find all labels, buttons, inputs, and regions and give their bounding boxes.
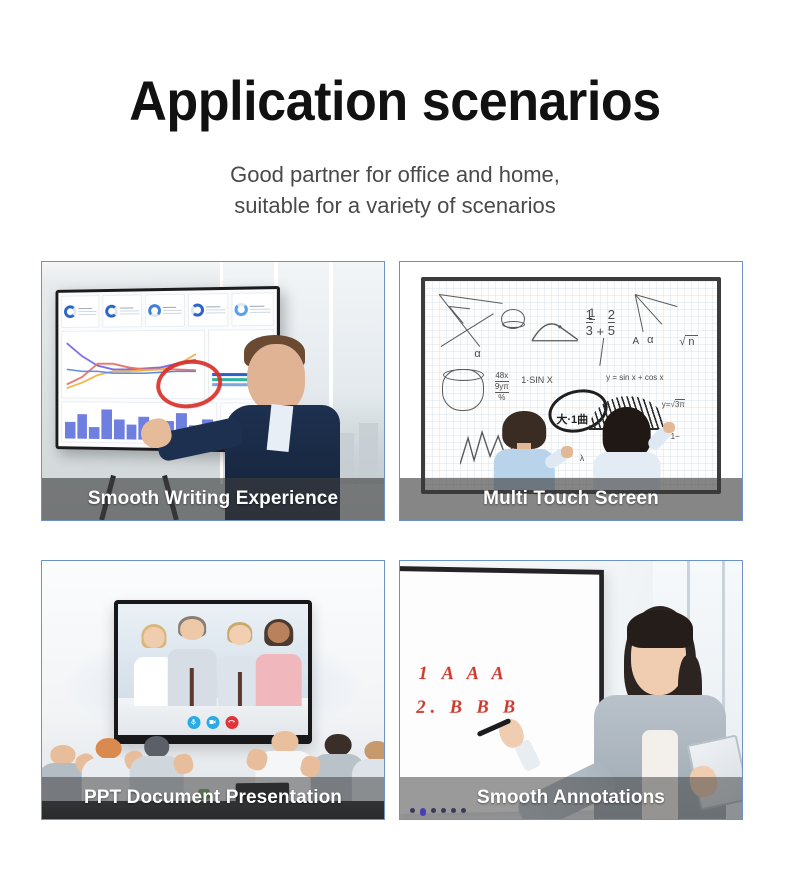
scenario-card-smooth-annotations[interactable]: 1 A A A 2. B B B — [399, 560, 743, 820]
application-scenarios-page: Application scenarios Good partner for o… — [0, 0, 790, 889]
card-caption-text: Smooth Annotations — [477, 787, 665, 809]
subtitle-line-2: suitable for a variety of scenarios — [0, 190, 790, 221]
display-toolbar-indicators — [410, 808, 466, 816]
scenario-card-smooth-writing-experience[interactable]: Smooth Writing Experience — [41, 261, 385, 521]
page-title: Application scenarios — [28, 70, 763, 133]
card-caption-bar: Multi Touch Screen — [400, 478, 742, 520]
scenario-card-grid: Smooth Writing Experience α — [41, 261, 743, 820]
interactive-whiteboard: α 1 — [421, 277, 722, 494]
card-caption-bar: PPT Document Presentation — [42, 777, 384, 819]
annotation-line-2: 2. B B B — [416, 697, 520, 719]
card-caption-text: Smooth Writing Experience — [88, 488, 338, 510]
scenario-card-ppt-document-presentation[interactable]: PPT Document Presentation — [41, 560, 385, 820]
page-header: Application scenarios Good partner for o… — [0, 0, 790, 221]
scenario-card-multi-touch-screen[interactable]: α 1 — [399, 261, 743, 521]
call-participant-2 — [167, 619, 216, 706]
annotation-line-1: 1 A A A — [419, 663, 509, 685]
call-participant-4 — [255, 622, 303, 706]
card-caption-text: PPT Document Presentation — [84, 787, 342, 809]
subtitle-line-1: Good partner for office and home, — [0, 159, 790, 190]
card-caption-bar: Smooth Writing Experience — [42, 478, 384, 520]
card-caption-text: Multi Touch Screen — [483, 488, 659, 510]
page-subtitle: Good partner for office and home, suitab… — [0, 159, 790, 221]
